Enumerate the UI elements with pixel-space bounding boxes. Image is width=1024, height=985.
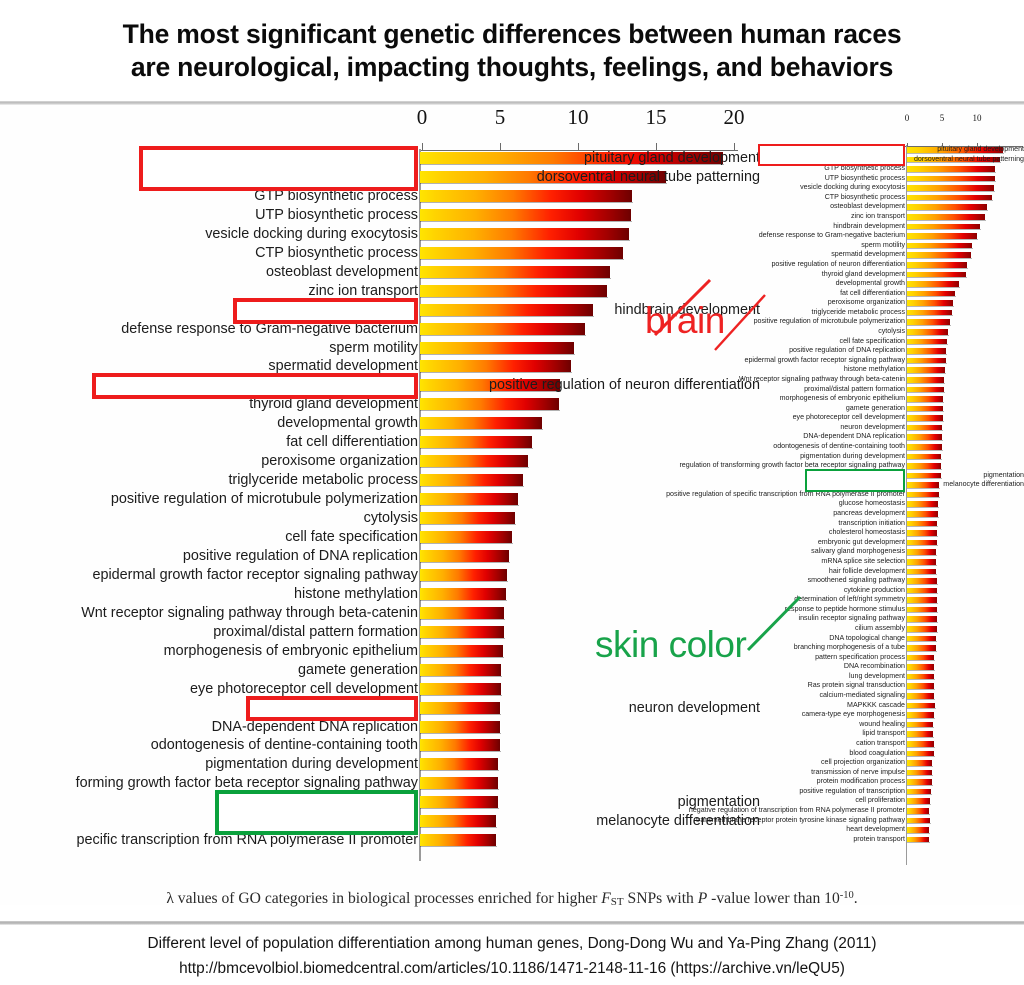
small-chart-x-axis: 0510 xyxy=(905,113,1024,147)
small-chart-bar xyxy=(907,214,986,220)
big-chart-label: pecific transcription from RNA polymeras… xyxy=(77,833,419,847)
small-chart-bar xyxy=(907,683,935,689)
big-chart-label: DNA-dependent DNA replication xyxy=(212,720,418,734)
small-chart-bar xyxy=(907,501,939,507)
small-chart-bar xyxy=(907,319,951,325)
small-chart-label: blood coagulation xyxy=(849,750,905,757)
big-chart-label: spermatid development xyxy=(268,359,418,373)
big-chart-bar xyxy=(420,777,499,789)
small-chart-label: UTP biosynthetic process xyxy=(825,175,905,182)
small-chart-bar xyxy=(907,693,935,699)
small-chart-bar xyxy=(907,300,954,306)
figure-panel: 05101520 pituitary gland developmentdors… xyxy=(0,105,1024,905)
small-chart-label: transmembrane receptor protein tyrosine … xyxy=(696,817,905,824)
small-chart-label: GTP biosynthetic process xyxy=(824,165,905,172)
big-chart-label: cell fate specification xyxy=(285,530,418,544)
small-chart-label-highlighted: pigmentation xyxy=(719,472,1024,479)
small-chart-bar xyxy=(907,272,967,278)
small-chart-bar xyxy=(907,425,943,431)
small-chart-label: transcription initiation xyxy=(838,520,905,527)
big-chart-label: zinc ion transport xyxy=(308,284,418,298)
small-chart-label: odontogenesis of dentine-containing toot… xyxy=(773,443,905,450)
small-chart-bar xyxy=(907,645,937,651)
big-chart-label: vesicle docking during exocytosis xyxy=(205,227,418,241)
big-chart-label: forming growth factor beta receptor sign… xyxy=(76,776,418,790)
small-chart-label: hindbrain development xyxy=(833,223,905,230)
small-chart-label: defense response to Gram-negative bacter… xyxy=(759,232,905,239)
small-chart-bar xyxy=(907,549,937,555)
big-chart-bar xyxy=(420,493,519,505)
big-x-tick-10: 10 xyxy=(568,105,589,130)
small-chart-label: DNA recombination xyxy=(844,663,905,670)
small-chart-label: peroxisome organization xyxy=(828,299,905,306)
small-chart-label: cholesterol homeostasis xyxy=(829,529,905,536)
small-chart-label: sperm motility xyxy=(861,242,905,249)
small-chart-label: triglyceride metabolic process xyxy=(812,309,905,316)
small-chart-label: determination of left/right symmetry xyxy=(794,596,905,603)
big-chart-label: thyroid gland development xyxy=(249,397,418,411)
small-chart-label: protein modification process xyxy=(817,778,905,785)
small-chart-bar xyxy=(907,185,995,191)
small-chart-bar xyxy=(907,597,938,603)
big-chart-label: GTP biosynthetic process xyxy=(254,189,418,203)
small-chart-label: cytokine production xyxy=(844,587,905,594)
caption-exponent: -10 xyxy=(840,890,854,901)
small-chart-label: Wnt receptor signaling pathway through b… xyxy=(739,376,905,383)
figure-caption: λ values of GO categories in biological … xyxy=(0,882,1024,916)
small-chart-bar xyxy=(907,262,968,268)
small-chart-bar xyxy=(907,195,993,201)
title-line-2: are neurological, impacting thoughts, fe… xyxy=(131,51,893,84)
small-chart-bar xyxy=(907,760,933,766)
small-chart-bar xyxy=(907,224,981,230)
big-chart-bar xyxy=(420,417,543,429)
small-chart-bar xyxy=(907,808,930,814)
small-chart-bar xyxy=(907,703,936,709)
big-chart-label: positive regulation of DNA replication xyxy=(183,549,418,563)
big-chart-bar xyxy=(420,683,502,695)
big-chart-label: morphogenesis of embryonic epithelium xyxy=(164,644,418,658)
small-chart-label: DNA topological change xyxy=(829,635,905,642)
small-chart-label: pattern specification process xyxy=(815,654,905,661)
small-chart-label: pigmentation during development xyxy=(800,453,905,460)
small-chart-bar xyxy=(907,655,935,661)
big-chart-bar xyxy=(420,531,513,543)
small-chart-label: glucose homeostasis xyxy=(839,500,905,507)
big-chart-bar xyxy=(420,758,499,770)
small-chart-bar xyxy=(907,607,938,613)
big-chart-label: cytolysis xyxy=(364,511,418,525)
small-chart-label: hair follicle development xyxy=(829,568,905,575)
small-chart-label: positive regulation of microtubule polym… xyxy=(754,318,905,325)
small-chart-bar xyxy=(907,789,932,795)
small-chart-bar xyxy=(907,578,938,584)
small-chart-label: cytolysis xyxy=(878,328,905,335)
small-chart-bar xyxy=(907,310,953,316)
small-chart-label: histone methylation xyxy=(844,366,905,373)
big-chart-bar xyxy=(420,247,624,259)
big-chart-bar xyxy=(420,228,630,240)
small-chart-bar xyxy=(907,616,938,622)
big-chart-bar xyxy=(420,834,497,846)
small-chart-label: vesicle docking during exocytosis xyxy=(800,184,905,191)
small-chart-bar xyxy=(907,674,935,680)
small-chart-bar xyxy=(907,741,935,747)
big-chart-label: Wnt receptor signaling pathway through b… xyxy=(81,606,418,620)
small-chart-label: embryonic gut development xyxy=(818,539,905,546)
small-chart-label: calcium-mediated signaling xyxy=(819,692,905,699)
big-chart-bar xyxy=(420,550,510,562)
big-chart-label: CTP biosynthetic process xyxy=(255,246,418,260)
small-chart-label-highlighted: melanocyte differentiation xyxy=(719,481,1024,488)
source-line-2: http://bmcevolbiol.biomedcentral.com/art… xyxy=(179,956,845,981)
small-chart-bar xyxy=(907,406,944,412)
small-chart-label: MAPKKK cascade xyxy=(847,702,905,709)
big-chart-bar xyxy=(420,285,608,297)
caption-mid: SNPs with xyxy=(624,890,698,907)
small-chart-bar xyxy=(907,588,938,594)
small-chart-label: developmental growth xyxy=(836,280,905,287)
big-chart-bar xyxy=(420,588,507,600)
source-citation: Different level of population differenti… xyxy=(0,927,1024,985)
small-chart-bar xyxy=(907,569,937,575)
small-chart-label: positive regulation of specific transcri… xyxy=(666,491,905,498)
small-chart-bar xyxy=(907,837,930,843)
small-chart-label: cation transport xyxy=(856,740,905,747)
small-chart-label: thyroid gland development xyxy=(822,271,905,278)
small-chart-bar xyxy=(907,377,945,383)
small-chart-label: zinc ion transport xyxy=(851,213,905,220)
small-chart-label: protein transport xyxy=(853,836,905,843)
big-chart-bar xyxy=(420,436,533,448)
small-chart-label: lipid transport xyxy=(862,730,905,737)
small-chart-label: neuron development xyxy=(840,424,905,431)
small-chart-label: cilium assembly xyxy=(855,625,905,632)
small-chart-label: pancreas development xyxy=(833,510,905,517)
big-chart-label: peroxisome organization xyxy=(261,454,418,468)
small-chart-label: DNA-dependent DNA replication xyxy=(803,433,905,440)
big-chart-label: proximal/distal pattern formation xyxy=(213,625,418,639)
big-chart-bar xyxy=(420,645,504,657)
big-chart-label: osteoblast development xyxy=(266,265,418,279)
small-chart-label: epidermal growth factor receptor signali… xyxy=(745,357,905,364)
small-chart-label: response to peptide hormone stimulus xyxy=(785,606,905,613)
small-chart-bar xyxy=(907,540,938,546)
big-chart-bar xyxy=(420,323,586,335)
small-chart-bar xyxy=(907,252,972,258)
big-chart-label: fat cell differentiation xyxy=(286,435,418,449)
small-chart-bar xyxy=(907,243,973,249)
small-chart-bar xyxy=(907,492,940,498)
small-chart-bar xyxy=(907,281,960,287)
small-chart-label: gamete generation xyxy=(846,405,905,412)
small-chart-label: smoothened signaling pathway xyxy=(808,577,905,584)
caption-p: P xyxy=(698,890,708,907)
big-chart-label: histone methylation xyxy=(294,587,418,601)
big-chart-label: developmental growth xyxy=(277,416,418,430)
big-chart-label: UTP biosynthetic process xyxy=(255,208,418,222)
big-chart-label: epidermal growth factor receptor signali… xyxy=(92,568,418,582)
small-chart-label: cell fate specification xyxy=(840,338,905,345)
small-chart-bar xyxy=(907,636,937,642)
small-chart-label: transmission of nerve impulse xyxy=(811,769,905,776)
small-chart-label: mRNA splice site selection xyxy=(821,558,905,565)
small-chart-label: branching morphogenesis of a tube xyxy=(794,644,905,651)
small-chart-bar xyxy=(907,770,933,776)
small-chart-bar xyxy=(907,367,946,373)
big-chart-bar xyxy=(420,664,502,676)
small-chart-bar xyxy=(907,233,978,239)
small-chart-bar xyxy=(907,664,935,670)
title-line-1: The most significant genetic differences… xyxy=(123,18,902,51)
small-chart-label: fat cell differentiation xyxy=(840,290,905,297)
small-chart-bar xyxy=(907,176,996,182)
big-chart-label: gamete generation xyxy=(298,663,418,677)
caption-end: . xyxy=(854,890,858,907)
small-chart-label: negative regulation of transcription fro… xyxy=(689,807,905,814)
full-bar-chart-thumbnail: 0510 pituitary gland developmentdorsoven… xyxy=(600,105,1024,880)
small-chart-label: osteoblast development xyxy=(830,203,905,210)
small-chart-label: eye photoreceptor cell development xyxy=(793,414,905,421)
small-chart-bar xyxy=(907,434,943,440)
big-chart-label: sperm motility xyxy=(329,341,418,355)
small-chart-bar xyxy=(907,396,944,402)
small-chart-label: proximal/distal pattern formation xyxy=(804,386,905,393)
small-chart-bar xyxy=(907,511,939,517)
slide-title: The most significant genetic differences… xyxy=(0,0,1024,102)
small-chart-label: cell proliferation xyxy=(855,797,905,804)
big-chart-bar xyxy=(420,398,560,410)
caption-post: -value lower than 10 xyxy=(707,890,840,907)
small-x-tick-5: 5 xyxy=(940,113,945,123)
small-chart-category-labels: pituitary gland developmentdorsoventral … xyxy=(600,105,905,880)
small-chart-label: morphogenesis of embryonic epithelium xyxy=(780,395,905,402)
small-chart-bar xyxy=(907,291,956,297)
small-chart-bar xyxy=(907,818,931,824)
big-chart-bar xyxy=(420,360,572,372)
small-chart-bar xyxy=(907,521,938,527)
big-chart-label: eye photoreceptor cell development xyxy=(190,682,418,696)
big-chart-label: positive regulation of microtubule polym… xyxy=(111,492,418,506)
small-chart-bar xyxy=(907,751,935,757)
small-chart-bar xyxy=(907,779,933,785)
small-chart-label: insulin receptor signaling pathway xyxy=(799,615,905,622)
small-chart-label: lung development xyxy=(849,673,905,680)
caption-divider xyxy=(0,921,1024,925)
caption-fst-f: F xyxy=(601,890,611,907)
big-chart-label: defense response to Gram-negative bacter… xyxy=(121,322,418,336)
small-chart-label: CTP biosynthetic process xyxy=(825,194,905,201)
big-chart-category-labels: pituitary gland developmentdorsoventral … xyxy=(0,105,418,875)
caption-fst-sub: ST xyxy=(611,896,624,908)
big-chart-bar xyxy=(420,474,524,486)
small-chart-bar xyxy=(907,415,944,421)
small-chart-label: salivary gland morphogenesis xyxy=(811,548,905,555)
small-chart-bar xyxy=(907,454,942,460)
big-chart-bar xyxy=(420,569,508,581)
skin-color-callout-label: skin color xyxy=(595,624,746,666)
small-chart-bar xyxy=(907,387,945,393)
small-chart-bar xyxy=(907,204,988,210)
small-chart-label: positive regulation of neuron differenti… xyxy=(771,261,905,268)
small-chart-bar xyxy=(907,463,942,469)
small-chart-bar xyxy=(907,444,943,450)
big-chart-label: pigmentation during development xyxy=(205,757,418,771)
small-chart-bar xyxy=(907,731,934,737)
small-chart-bar xyxy=(907,166,996,172)
small-chart-label: spermatid development xyxy=(831,251,905,258)
small-chart-bars xyxy=(907,145,1022,865)
big-chart-bar xyxy=(420,512,516,524)
small-chart-bar xyxy=(907,626,938,632)
small-chart-label: regulation of transforming growth factor… xyxy=(679,462,905,469)
big-x-tick-0: 0 xyxy=(417,105,428,130)
small-chart-label-highlighted: dorsoventral neural tube patterning xyxy=(719,156,1024,163)
small-chart-bar xyxy=(907,559,937,565)
big-chart-label: odontogenesis of dentine-containing toot… xyxy=(151,738,418,752)
big-chart-label: triglyceride metabolic process xyxy=(228,473,418,487)
small-chart-label-highlighted: pituitary gland development xyxy=(719,146,1024,153)
small-chart-label: Ras protein signal transduction xyxy=(808,682,905,689)
big-x-tick-5: 5 xyxy=(495,105,506,130)
small-chart-bar xyxy=(907,712,935,718)
small-chart-label: positive regulation of transcription xyxy=(799,788,905,795)
small-chart-bar xyxy=(907,348,947,354)
small-x-tick-10: 10 xyxy=(973,113,982,123)
big-chart-bar xyxy=(420,626,505,638)
small-chart-bar xyxy=(907,530,938,536)
big-chart-bar xyxy=(420,739,501,751)
big-chart-bar xyxy=(420,721,501,733)
small-chart-bar xyxy=(907,798,931,804)
small-chart-bar xyxy=(907,358,947,364)
small-chart-bar xyxy=(907,827,930,833)
caption-pre: λ values of GO categories in biological … xyxy=(166,890,601,907)
big-chart-bar xyxy=(420,342,575,354)
small-chart-label: positive regulation of DNA replication xyxy=(789,347,905,354)
brain-callout-label: brain xyxy=(645,300,725,342)
small-chart-label: cell projection organization xyxy=(821,759,905,766)
small-chart-bar xyxy=(907,722,934,728)
small-chart-bar xyxy=(907,329,949,335)
small-x-tick-0: 0 xyxy=(905,113,910,123)
small-chart-bar xyxy=(907,339,948,345)
big-chart-bar xyxy=(420,455,529,467)
source-line-1: Different level of population differenti… xyxy=(148,931,877,956)
small-chart-label: wound healing xyxy=(859,721,905,728)
big-chart-bar xyxy=(420,607,505,619)
big-chart-bar xyxy=(420,266,611,278)
small-chart-label: camera-type eye morphogenesis xyxy=(802,711,905,718)
small-chart-label: heart development xyxy=(846,826,905,833)
